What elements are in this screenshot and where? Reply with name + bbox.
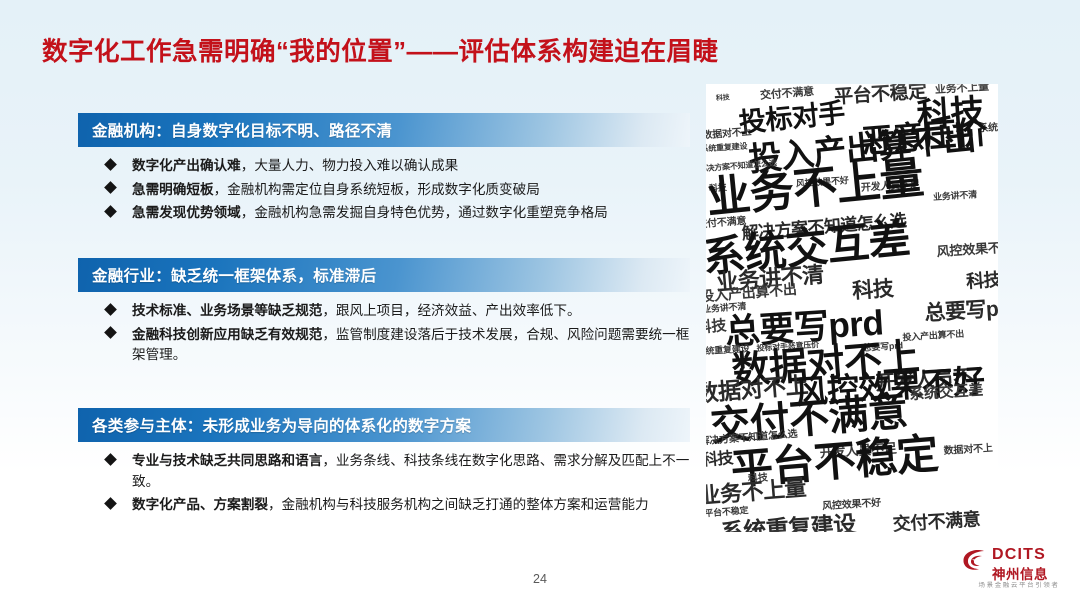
slide-canvas: 数字化工作急需明确“我的位置”——评估体系构建迫在眉睫 金融机构：自身数字化目标… — [0, 0, 1080, 607]
word-cloud-word: 数据对不上 — [706, 128, 752, 142]
bullet-text: ，金融机构需定位自身系统短板，形成数字化质变破局 — [214, 182, 540, 197]
bullet-emphasis: 数字化产出确认难 — [132, 158, 241, 173]
bullet-emphasis: 数字化产品、方案割裂 — [132, 497, 268, 512]
section-heading-label: 金融行业：缺乏统一框架体系，标准滞后 — [78, 264, 376, 286]
word-cloud-word: 科技 — [716, 94, 730, 102]
word-cloud-canvas: 交付不满意平台不稳定业务不上量投标对手恶意压价科技科技投标对手科技系统交数据对不… — [706, 84, 998, 532]
section-heading-bar: 金融机构：自身数字化目标不明、路径不清 — [78, 113, 690, 147]
list-item: 技术标准、业务场景等缺乏规范，跟风上项目，经济效益、产出效率低下。 — [102, 301, 690, 322]
section-heading-bar: 各类参与主体：未形成业务为导向的体系化的数字方案 — [78, 408, 690, 442]
section-heading-bar: 金融行业：缺乏统一框架体系，标准滞后 — [78, 258, 690, 292]
section-financial-institutions: 金融机构：自身数字化目标不明、路径不清 数字化产出确认难，大量人力、物力投入难以… — [78, 113, 690, 227]
bullet-text: ，大量人力、物力投入难以确认成果 — [241, 158, 459, 173]
page-title: 数字化工作急需明确“我的位置”——评估体系构建迫在眉睫 — [42, 32, 802, 72]
logo-brand-en: DCITS — [992, 546, 1046, 564]
bullet-emphasis: 急需明确短板 — [132, 182, 214, 197]
list-item: 专业与技术缺乏共同思路和语言，业务条线、科技条线在数字化思路、需求分解及匹配上不… — [102, 451, 690, 492]
bullet-text: ，金融机构与科技服务机构之间缺乏打通的整体方案和运营能力 — [268, 497, 649, 512]
diamond-bullet-icon — [104, 497, 117, 510]
diamond-bullet-icon — [104, 158, 117, 171]
word-cloud-word: 科技 — [966, 271, 998, 291]
word-cloud-word: 系统重复建设 — [706, 143, 748, 154]
word-cloud-word: 交付不满意 — [892, 510, 980, 532]
bullet-emphasis: 专业与技术缺乏共同思路和语言 — [132, 453, 322, 468]
bullet-list: 专业与技术缺乏共同思路和语言，业务条线、科技条线在数字化思路、需求分解及匹配上不… — [78, 442, 690, 516]
bullet-list: 数字化产出确认难，大量人力、物力投入难以确认成果 急需明确短板，金融机构需定位自… — [78, 147, 690, 224]
word-cloud-word: 科技 — [706, 318, 727, 335]
list-item: 金融科技创新应用缺乏有效规范，监管制度建设落后于技术发展，合规、风险问题需要统一… — [102, 325, 690, 366]
list-item: 数字化产出确认难，大量人力、物力投入难以确认成果 — [102, 156, 690, 177]
word-cloud-image: 交付不满意平台不稳定业务不上量投标对手恶意压价科技科技投标对手科技系统交数据对不… — [706, 84, 998, 532]
bullet-text: ，金融机构急需发掘自身特色优势，通过数字化重塑竞争格局 — [241, 205, 608, 220]
page-number: 24 — [0, 572, 1080, 586]
diamond-bullet-icon — [104, 181, 117, 194]
bullet-emphasis: 金融科技创新应用缺乏有效规范 — [132, 327, 322, 342]
diamond-bullet-icon — [104, 453, 117, 466]
word-cloud-word: 投标对手 — [738, 100, 846, 137]
diamond-bullet-icon — [104, 205, 117, 218]
section-heading-label: 金融机构：自身数字化目标不明、路径不清 — [78, 119, 392, 141]
bullet-list: 技术标准、业务场景等缺乏规范，跟风上项目，经济效益、产出效率低下。 金融科技创新… — [78, 292, 690, 366]
list-item: 急需发现优势领域，金融机构急需发掘自身特色优势，通过数字化重塑竞争格局 — [102, 203, 690, 224]
section-heading-label: 各类参与主体：未形成业务为导向的体系化的数字方案 — [78, 414, 471, 436]
word-cloud-word: 风控效果不 — [936, 241, 998, 258]
word-cloud-word: 科技 — [852, 278, 894, 302]
diamond-bullet-icon — [104, 326, 117, 339]
word-cloud-word: 业务不上量 — [706, 477, 807, 508]
list-item: 数字化产品、方案割裂，金融机构与科技服务机构之间缺乏打通的整体方案和运营能力 — [102, 495, 690, 516]
company-logo: DCITS 神州信息 场景金融云平台引领者 — [962, 546, 1074, 596]
bullet-emphasis: 急需发现优势领域 — [132, 205, 241, 220]
word-cloud-word: 系统重复建设 — [720, 513, 856, 532]
word-cloud-word: 总要写prd — [924, 297, 998, 324]
word-cloud-word: 平台不稳定 — [706, 506, 749, 519]
word-cloud-word: 交付不满意 — [760, 87, 815, 102]
word-cloud-word: 数据对不上 — [943, 444, 993, 457]
diamond-bullet-icon — [104, 303, 117, 316]
bullet-emphasis: 技术标准、业务场景等缺乏规范 — [132, 303, 322, 318]
word-cloud-word: 业务讲不清 — [933, 190, 977, 202]
word-cloud-word: 平台不稳定 — [834, 84, 928, 107]
section-participants: 各类参与主体：未形成业务为导向的体系化的数字方案 专业与技术缺乏共同思路和语言，… — [78, 408, 690, 519]
bullet-text: ，跟风上项目，经济效益、产出效率低下。 — [322, 303, 580, 318]
dcits-swirl-icon — [962, 548, 988, 572]
list-item: 急需明确短板，金融机构需定位自身系统短板，形成数字化质变破局 — [102, 180, 690, 201]
logo-tagline: 场景金融云平台引领者 — [964, 579, 1074, 589]
section-financial-industry: 金融行业：缺乏统一框架体系，标准滞后 技术标准、业务场景等缺乏规范，跟风上项目，… — [78, 258, 690, 369]
word-cloud-word: 系统交互差 — [909, 383, 984, 403]
